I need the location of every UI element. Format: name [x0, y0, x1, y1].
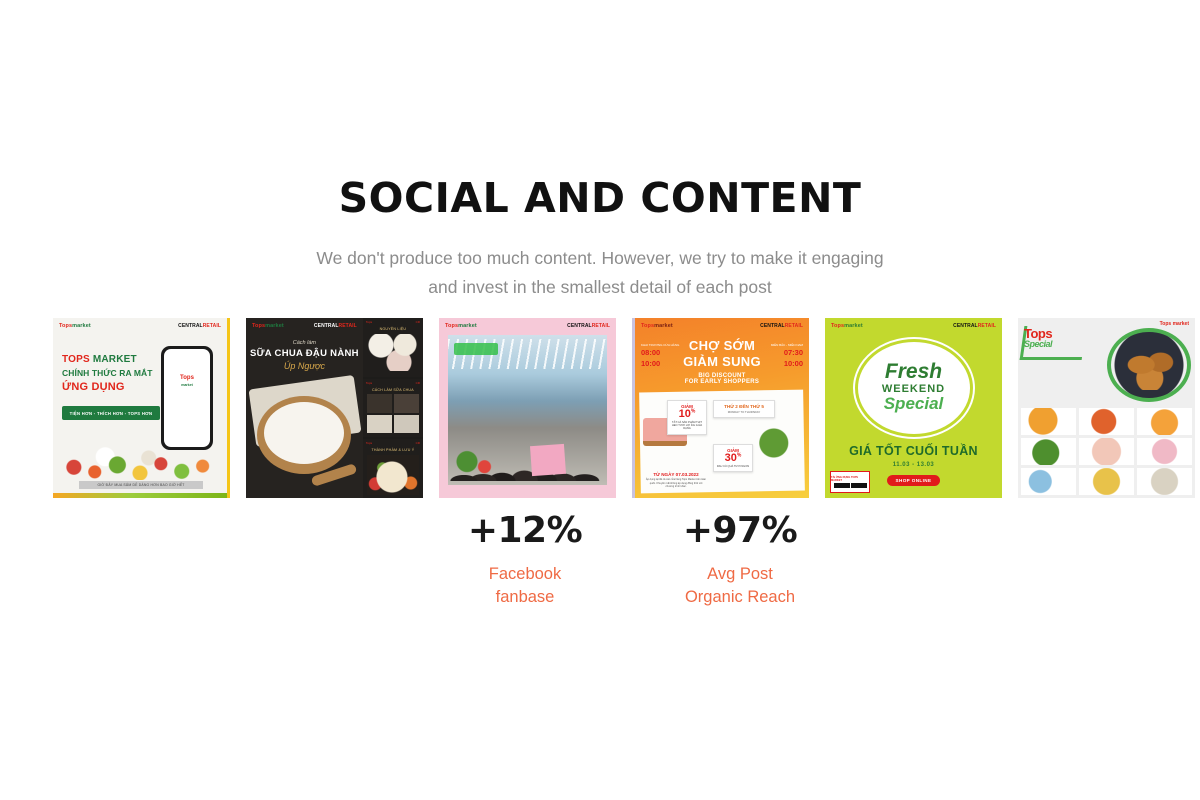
stat-facebook-fanbase: +12% Facebook fanbase — [425, 512, 625, 610]
flyer-product-cell — [1021, 438, 1076, 465]
recipe-kicker: Cách làm — [246, 340, 363, 346]
carousel-panel-result[interactable]: TopsCR THÀNH PHẨM & LƯU Ý — [363, 439, 423, 498]
result-illustration — [367, 455, 419, 495]
splat-line-1: Fresh — [885, 362, 942, 381]
chicken-plate-photo — [1107, 328, 1191, 402]
headline-line-1: TOPS MARKET — [62, 354, 158, 365]
flyer-logo: TopsSpecial — [1024, 326, 1052, 349]
subtitle-line-2: and invest in the smallest detail of eac… — [0, 273, 1200, 302]
pink-banner-prop — [530, 444, 566, 476]
promo-headline: GIÁ TỐT CUỐI TUẦN — [825, 444, 1002, 458]
benefit-pill: TIỆN HƠN - THÍCH HƠN - TOPS HƠN — [62, 406, 160, 420]
flyer-product-grid — [1021, 408, 1192, 495]
panel-title: THÀNH PHẨM & LƯU Ý — [363, 448, 423, 452]
stat-label-line-2: Organic Reach — [640, 586, 840, 609]
subtitle-line-1: We don't produce too much content. Howev… — [0, 244, 1200, 273]
recipe-title-block: Cách làm SỮA CHUA ĐẬU NÀNH Úp Ngược — [246, 340, 363, 371]
flyer-product-cell — [1137, 438, 1192, 465]
paint-splat-badge: Fresh WEEKEND Special — [858, 342, 970, 434]
central-retail-logo: CENTRALRETAIL — [953, 323, 996, 329]
promo-terms-body: Áp dụng tại tất cả các cửa hàng Tops Mar… — [645, 478, 707, 488]
carousel-panel-steps[interactable]: TopsCR CÁCH LÀM SỮA CHUA — [363, 379, 423, 438]
headline-line-3: ỨNG DỤNG — [62, 381, 158, 393]
badge-value: 30% — [716, 453, 750, 464]
recipe-title: SỮA CHUA ĐẬU NÀNH — [246, 348, 363, 359]
central-retail-logo: CENTRALRETAIL — [178, 323, 221, 329]
content-card-strip: Topsmarket CENTRALRETAIL TOPS MARKET CHÍ… — [53, 318, 1200, 498]
panel-title: CÁCH LÀM SỮA CHUA — [363, 388, 423, 392]
stat-value: +97% — [640, 512, 840, 550]
slide-root: SOCIAL AND CONTENT We don't produce too … — [0, 0, 1200, 800]
yogurt-bowl — [257, 396, 351, 474]
groceries-illustration — [53, 422, 227, 480]
flyer-product-cell — [1021, 408, 1076, 435]
content-card-soy-yogurt-recipe[interactable]: Topsmarket CENTRALRETAIL Cách làm SỮA CH… — [246, 318, 423, 498]
opening-time-left-1: 08:00 — [641, 348, 660, 357]
discount-badge-30: GIẢM 30% RAU CỦ QUẢ TƯƠI NGON — [713, 444, 753, 472]
headline-line-2: CHÍNH THỨC RA MẮT — [62, 368, 158, 378]
promo-start-date: TỪ NGÀY 07.03.2022 — [645, 472, 707, 477]
flyer-product-cell — [1079, 408, 1134, 435]
discount-badge-10: GIẢM 10% TẤT CẢ SẢN PHẨM THỊT HEO TƯƠI L… — [667, 400, 707, 435]
flyer-product-cell — [1079, 438, 1134, 465]
tops-market-logo: Topsmarket — [445, 323, 477, 329]
vegetable-illustration — [757, 428, 799, 458]
promo-terms: TỪ NGÀY 07.03.2022 Áp dụng tại tất cả cá… — [645, 472, 707, 488]
stat-label: Facebook fanbase — [425, 563, 625, 610]
team-photo — [448, 335, 607, 485]
flower-bicycle-prop — [452, 448, 502, 482]
card-brand-bar: Topsmarket CENTRALRETAIL — [635, 318, 809, 333]
app-badge-label: TẢI ỨNG DỤNG TOPS MARKET — [831, 476, 869, 482]
opening-time-left-2: 10:00 — [641, 359, 660, 368]
stat-label-line-2: fanbase — [425, 586, 625, 609]
content-card-tops-market-app[interactable]: Topsmarket CENTRALRETAIL TOPS MARKET CHÍ… — [53, 318, 230, 498]
shop-online-button[interactable]: SHOP ONLINE — [887, 475, 941, 486]
flyer-corner-brand: Tops market — [1160, 321, 1189, 327]
opening-time-right-2: 10:00 — [784, 359, 803, 368]
store-sign-icon — [454, 343, 498, 355]
content-card-store-team-photo[interactable]: Topsmarket CENTRALRETAIL — [439, 318, 616, 498]
card-brand-bar: Topsmarket CENTRALRETAIL — [53, 318, 227, 333]
content-card-tops-special-flyer[interactable]: TopsSpecial Tops market — [1018, 318, 1195, 498]
opening-time-right-1: 07:30 — [784, 348, 803, 357]
card-brand-bar: Topsmarket CENTRALRETAIL — [825, 318, 1002, 333]
flyer-product-cell — [1137, 408, 1192, 435]
discount-badge-days: THỨ 2 ĐẾN THỨ 5 MONDAY TO THURSDAY — [713, 400, 775, 418]
tops-market-logo: Topsmarket — [831, 323, 863, 329]
content-card-fresh-weekend-special[interactable]: Topsmarket CENTRALRETAIL Fresh WEEKEND S… — [825, 318, 1002, 498]
central-retail-logo: CENTRALRETAIL — [760, 323, 803, 329]
carousel-panel-ingredients[interactable]: TopsCR NGUYÊN LIỆU — [363, 318, 423, 377]
central-retail-logo: CENTRALRETAIL — [314, 323, 357, 329]
tops-market-logo: Topsmarket — [59, 323, 91, 329]
recipe-script-word: Úp Ngược — [246, 361, 363, 371]
page-subtitle: We don't produce too much content. Howev… — [0, 244, 1200, 302]
splat-line-3: Special — [884, 394, 944, 414]
promo-sub-line-2: FOR EARLY SHOPPERS — [635, 379, 809, 385]
tops-market-logo: Topsmarket — [252, 323, 284, 329]
store-region-label-right: MIỀN BẮC - MIỀN NAM — [771, 343, 803, 347]
badge-days-en: MONDAY TO THURSDAY — [716, 410, 772, 414]
card-footer-strip: GIỜ ĐÂY MUA SẮM DỄ DÀNG HƠN BAO GIỜ HẾT — [79, 481, 203, 489]
bottom-gradient-band — [53, 493, 227, 498]
app-download-badge[interactable]: TẢI ỨNG DỤNG TOPS MARKET — [830, 471, 870, 493]
stat-value: +12% — [425, 512, 625, 550]
flyer-product-cell — [1021, 468, 1076, 495]
splat-text-block: Fresh WEEKEND Special — [858, 342, 970, 434]
store-region-label-left: KHAI TRƯƠNG CỬA HÀNG — [641, 343, 679, 347]
steps-grid — [367, 394, 419, 434]
flyer-product-cell — [1137, 468, 1192, 495]
badge-note: TẤT CẢ SẢN PHẨM THỊT HEO TƯƠI LỢI ÍCH & … — [670, 421, 704, 431]
panel-brand-bar: TopsCR — [366, 320, 420, 324]
stat-avg-post-organic-reach: +97% Avg Post Organic Reach — [640, 512, 840, 610]
page-title: SOCIAL AND CONTENT — [0, 176, 1200, 220]
card-brand-bar: Topsmarket CENTRALRETAIL — [246, 318, 363, 333]
header: SOCIAL AND CONTENT We don't produce too … — [0, 0, 1200, 302]
panel-title: NGUYÊN LIỆU — [363, 327, 423, 331]
card-brand-bar: Topsmarket CENTRALRETAIL — [439, 318, 616, 333]
badge-days-vi: THỨ 2 ĐẾN THỨ 5 — [716, 404, 772, 409]
panel-brand-bar: TopsCR — [366, 381, 420, 385]
tops-market-logo: Topsmarket — [641, 323, 673, 329]
flyer-product-cell — [1079, 468, 1134, 495]
app-store-buttons — [834, 483, 867, 488]
badge-note: RAU CỦ QUẢ TƯƠI NGON — [716, 465, 750, 468]
central-retail-logo: CENTRALRETAIL — [567, 323, 610, 329]
promo-dates: 11.03 - 13.03 — [825, 462, 1002, 468]
phone-app-logo: Topsmarket — [180, 375, 194, 387]
carousel-side-panels: TopsCR NGUYÊN LIỆU TopsCR CÁCH LÀM SỮA C… — [363, 318, 423, 498]
card-headline: TOPS MARKET CHÍNH THỨC RA MẮT ỨNG DỤNG — [62, 354, 158, 393]
stat-label-line-1: Avg Post — [640, 563, 840, 586]
badge-value: 10% — [670, 409, 704, 420]
stat-label-line-1: Facebook — [425, 563, 625, 586]
stat-label: Avg Post Organic Reach — [640, 563, 840, 610]
ingredients-illustration — [368, 334, 418, 371]
content-card-cho-som-giam-sung[interactable]: Topsmarket CENTRALRETAIL CHỢ SỚM GIẢM SU… — [632, 318, 809, 498]
recipe-hero: Topsmarket CENTRALRETAIL Cách làm SỮA CH… — [246, 318, 363, 498]
panel-brand-bar: TopsCR — [366, 441, 420, 445]
